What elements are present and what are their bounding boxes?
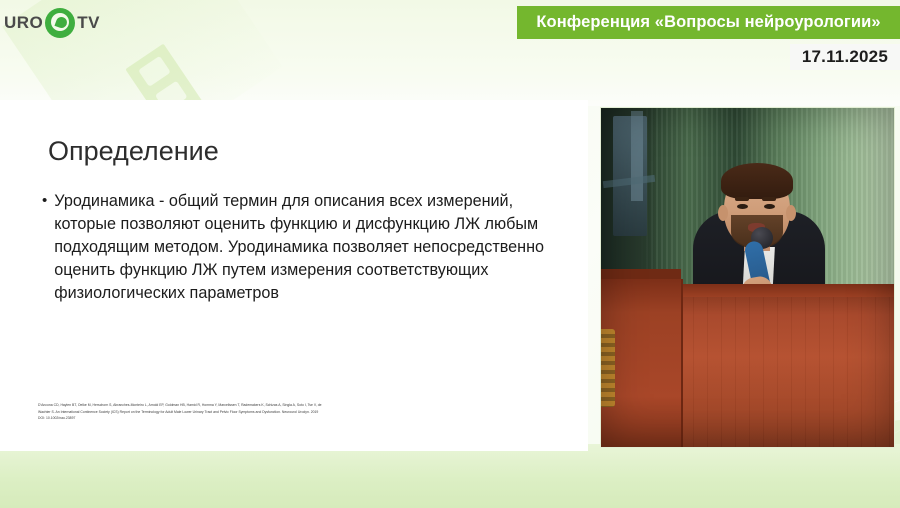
speaker-video-panel[interactable] [600,107,895,448]
presentation-screenshot: URO TV Конференция «Вопросы нейроурологи… [0,0,900,508]
logo-text-tv: TV [77,13,100,33]
slide-bullet-list: • Уродинамика - общий термин для описани… [42,190,562,305]
uro-tv-swirl-icon [45,8,75,38]
bullet-text: Уродинамика - общий термин для описания … [54,190,562,305]
slide-title: Определение [48,136,219,167]
date-badge: 17.11.2025 [790,44,900,70]
citation-reference: D'Ancona CD, Haylen BT, Oelke M, Herscho… [38,402,324,422]
logo-text-uro: URO [4,13,43,33]
background-bottom-band [0,444,900,508]
conference-title-bar: Конференция «Вопросы нейроурологии» [517,6,900,39]
video-vignette [601,108,894,447]
conference-title: Конференция «Вопросы нейроурологии» [536,13,880,32]
uro-tv-logo[interactable]: URO TV [4,4,112,42]
slide-panel: Определение • Уродинамика - общий термин… [0,106,588,451]
bullet-marker: • [42,190,47,305]
date-label: 17.11.2025 [802,47,888,67]
list-item: • Уродинамика - общий термин для описани… [42,190,562,305]
